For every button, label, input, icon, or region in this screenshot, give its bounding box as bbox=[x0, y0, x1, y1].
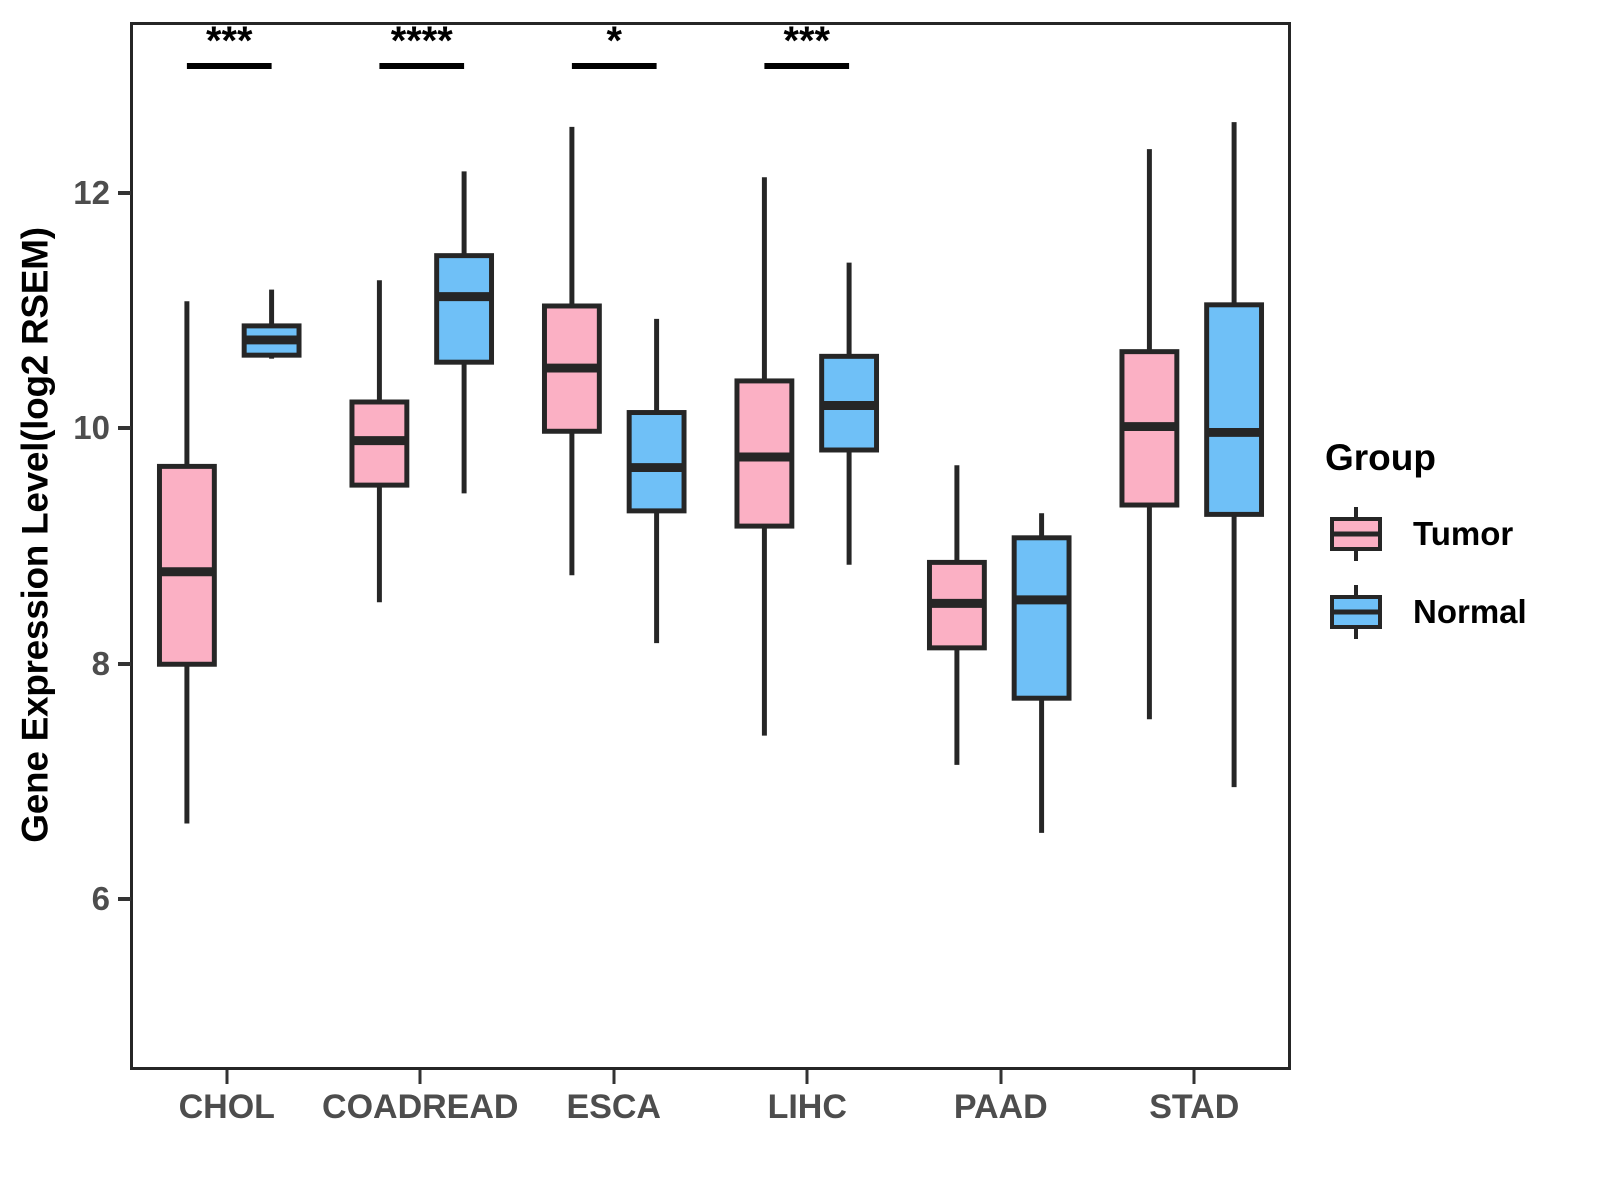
significance-lihc: *** bbox=[764, 25, 849, 66]
legend-key-icon bbox=[1325, 503, 1387, 565]
y-axis-tick-labels: 681012 bbox=[48, 0, 110, 1070]
box-tumor-lihc bbox=[735, 177, 793, 735]
significance-label: *** bbox=[206, 25, 253, 63]
x-axis-tick-mark bbox=[1193, 1070, 1196, 1084]
y-axis-tick-mark bbox=[118, 662, 131, 666]
box-tumor-paad bbox=[928, 465, 986, 765]
chart-root: Gene Expression Level(log2 RSEM) 681012 … bbox=[0, 0, 1600, 1200]
box-rect bbox=[1014, 538, 1069, 698]
x-axis-tick-mark bbox=[999, 1070, 1002, 1084]
x-axis-tick-label: COADREAD bbox=[322, 1088, 518, 1127]
box-rect bbox=[629, 413, 684, 511]
significance-label: *** bbox=[784, 25, 831, 63]
legend-item-label: Normal bbox=[1413, 593, 1527, 631]
x-axis-tick-label: STAD bbox=[1149, 1088, 1239, 1127]
box-normal-coadread bbox=[435, 171, 493, 493]
legend-key-icon bbox=[1325, 581, 1387, 643]
y-axis-tick-mark bbox=[118, 191, 131, 195]
x-axis-tick-label: ESCA bbox=[567, 1088, 661, 1127]
significance-label: **** bbox=[391, 25, 453, 63]
legend: Group TumorNormal bbox=[1325, 437, 1585, 659]
box-tumor-esca bbox=[543, 127, 601, 575]
box-rect bbox=[159, 466, 214, 664]
legend-item[interactable]: Tumor bbox=[1325, 503, 1585, 565]
legend-title: Group bbox=[1325, 437, 1585, 479]
y-axis-tick-label: 10 bbox=[50, 409, 110, 447]
boxplot-svg: *********** bbox=[133, 25, 1288, 1067]
box-normal-lihc bbox=[820, 263, 878, 565]
legend-key-swatch bbox=[1325, 503, 1387, 565]
legend-item[interactable]: Normal bbox=[1325, 581, 1585, 643]
box-normal-esca bbox=[628, 319, 686, 643]
significance-label: * bbox=[607, 25, 623, 63]
box-normal-stad bbox=[1205, 122, 1263, 787]
y-axis-tick-label: 6 bbox=[50, 880, 110, 918]
y-axis-tick-mark bbox=[118, 897, 131, 901]
box-rect bbox=[1207, 305, 1262, 515]
legend-items: TumorNormal bbox=[1325, 503, 1585, 643]
y-axis-tick-label: 8 bbox=[50, 645, 110, 683]
plot-panel: *********** bbox=[130, 22, 1291, 1070]
legend-item-label: Tumor bbox=[1413, 515, 1513, 553]
x-axis-tick-mark bbox=[612, 1070, 615, 1084]
significance-chol: *** bbox=[187, 25, 272, 66]
x-axis-tick-label: LIHC bbox=[768, 1088, 847, 1127]
y-axis-tick-label: 12 bbox=[50, 174, 110, 212]
box-tumor-chol bbox=[158, 301, 216, 823]
y-axis-tick-mark bbox=[118, 426, 131, 430]
x-axis-tick-label: CHOL bbox=[179, 1088, 275, 1127]
x-axis-tick-label: PAAD bbox=[954, 1088, 1048, 1127]
x-axis-tick-mark bbox=[225, 1070, 228, 1084]
box-rect bbox=[437, 256, 492, 363]
significance-coadread: **** bbox=[379, 25, 464, 66]
x-axis-tick-mark bbox=[419, 1070, 422, 1084]
box-tumor-coadread bbox=[350, 280, 408, 602]
box-tumor-stad bbox=[1120, 149, 1178, 719]
box-normal-paad bbox=[1013, 513, 1071, 833]
x-axis-tick-mark bbox=[806, 1070, 809, 1084]
box-normal-chol bbox=[243, 290, 301, 359]
significance-esca: * bbox=[572, 25, 657, 66]
legend-key-swatch bbox=[1325, 581, 1387, 643]
